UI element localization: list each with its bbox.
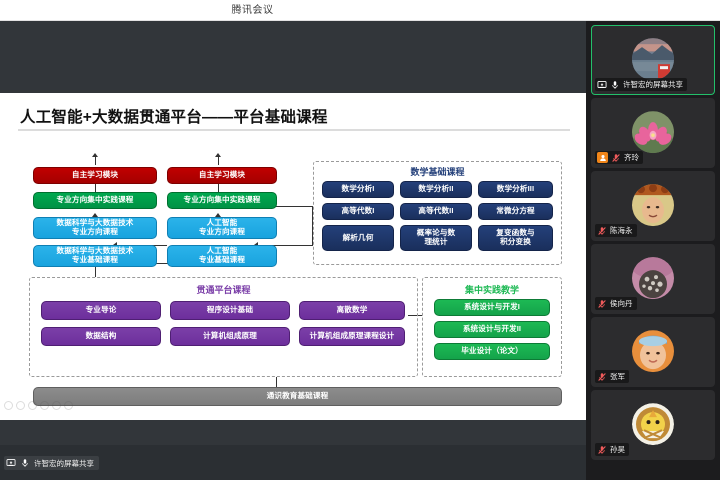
avatar (632, 184, 674, 226)
slide-title: 人工智能+大数据贯通平台——平台基础课程 (20, 105, 540, 127)
more-icon[interactable] (64, 401, 73, 410)
course-box: 人工智能 专业基础课程 (167, 245, 277, 267)
title-divider (18, 129, 570, 131)
participant-name: 齐玲 (624, 152, 639, 163)
course-box: 系统设计与开发I (434, 299, 550, 316)
participant-label: 许智宏的屏幕共享 (595, 78, 687, 91)
course-box: 概率论与数 理统计 (400, 225, 472, 251)
course-box: 专业方向集中实践课程 (33, 192, 157, 209)
microphone-muted-icon (597, 226, 607, 236)
course-box: 数学分析III (478, 181, 553, 198)
course-box: 数据科学与大数据技术 专业基础课程 (33, 245, 157, 267)
participant-label: 陈海永 (595, 224, 637, 237)
participant-rail[interactable]: 许智宏的屏幕共享 (586, 21, 720, 480)
participant-name: 张军 (610, 371, 625, 382)
course-box: 系统设计与开发II (434, 321, 550, 338)
connector (95, 184, 96, 192)
connector (276, 377, 277, 387)
microphone-muted-icon (597, 299, 607, 309)
microphone-muted-icon (597, 445, 607, 455)
avatar (632, 38, 674, 80)
participant-label: 齐玲 (595, 151, 643, 164)
course-box: 高等代数II (400, 203, 472, 220)
baby-photo-avatar (632, 330, 674, 372)
stage-top-letterbox (0, 21, 586, 93)
course-box: 离散数学 (299, 301, 405, 320)
connector-arrow (215, 153, 221, 157)
window-titlebar: 腾讯会议 (0, 0, 720, 21)
course-box: 毕业设计（论文） (434, 343, 550, 360)
connector-arrow (92, 153, 98, 157)
stage-bottom-letterbox (0, 420, 586, 445)
microphone-muted-icon (597, 372, 607, 382)
participant-tile-sun-hao[interactable]: 孙昊 (591, 390, 715, 460)
course-box: 自主学习模块 (33, 167, 157, 184)
participant-label: 张军 (595, 370, 629, 383)
shared-screen-stage[interactable]: 人工智能+大数据贯通平台——平台基础课程 (0, 21, 586, 445)
cartoon-emblem-avatar (632, 403, 674, 445)
pen-icon[interactable] (28, 401, 37, 410)
participant-name: 陈海永 (610, 225, 633, 236)
microphone-icon (20, 458, 30, 468)
math-panel-title: 数学基础课程 (313, 165, 562, 178)
participant-name: 侯向丹 (610, 298, 633, 309)
avatar (632, 403, 674, 445)
host-badge (597, 152, 608, 163)
share-status-chip: 许智宏的屏幕共享 (4, 456, 99, 470)
prev-slide-icon[interactable] (4, 401, 13, 410)
landscape-photo-avatar (632, 38, 674, 80)
screen-share-icon (597, 80, 607, 90)
general-education-bar: 通识教育基础课程 (33, 387, 562, 406)
pink-pattern-avatar (632, 257, 674, 299)
participant-label: 孙昊 (595, 443, 629, 456)
course-box: 专业方向集中实践课程 (167, 192, 277, 209)
course-box: 解析几何 (322, 225, 394, 251)
participant-tile-hou-xiangdan[interactable]: 侯向丹 (591, 244, 715, 314)
connector (218, 184, 219, 192)
course-box: 程序设计基础 (170, 301, 290, 320)
microphone-icon (610, 80, 620, 90)
course-box: 常微分方程 (478, 203, 553, 220)
bottom-status-bar: 许智宏的屏幕共享 (0, 445, 586, 480)
next-slide-icon[interactable] (16, 401, 25, 410)
platform-panel-title: 贯通平台课程 (29, 283, 418, 296)
avatar (632, 330, 674, 372)
participant-name: 许智宏的屏幕共享 (623, 79, 683, 90)
course-box: 数学分析II (400, 181, 472, 198)
slideshow-controls[interactable] (4, 401, 73, 410)
window-title: 腾讯会议 (0, 0, 720, 21)
child-photo-avatar (632, 184, 674, 226)
connector (95, 157, 96, 165)
participant-label: 侯向丹 (595, 297, 637, 310)
person-icon (599, 154, 607, 162)
course-box: 计算机组成原理 (170, 327, 290, 346)
screen-share-icon (6, 458, 16, 468)
course-box: 数学分析I (322, 181, 394, 198)
participant-tile-zhang-jun[interactable]: 张军 (591, 317, 715, 387)
course-box: 高等代数I (322, 203, 394, 220)
course-box: 人工智能 专业方向课程 (167, 217, 277, 239)
participant-tile-qi-ling[interactable]: 齐玲 (591, 98, 715, 168)
zoom-icon[interactable] (52, 401, 61, 410)
participant-tile-chen-haiyong[interactable]: 陈海永 (591, 171, 715, 241)
participant-name: 孙昊 (610, 444, 625, 455)
connector (218, 157, 219, 165)
course-box: 专业导论 (41, 301, 161, 320)
presentation-slide: 人工智能+大数据贯通平台——平台基础课程 (0, 93, 586, 420)
share-status-label: 许智宏的屏幕共享 (34, 458, 94, 469)
course-box: 计算机组成原理课程设计 (299, 327, 405, 346)
participant-tile-screen-share[interactable]: 许智宏的屏幕共享 (591, 25, 715, 95)
practice-panel-title: 集中实践教学 (422, 283, 562, 296)
course-box: 自主学习模块 (167, 167, 277, 184)
avatar (632, 111, 674, 153)
lotus-flower-avatar (632, 111, 674, 153)
course-box: 数据结构 (41, 327, 161, 346)
course-box: 数据科学与大数据技术 专业方向课程 (33, 217, 157, 239)
microphone-muted-icon (611, 153, 621, 163)
menu-icon[interactable] (40, 401, 49, 410)
tencent-meeting-window: 腾讯会议 人工智能+大数据贯通平台——平台基础课程 (0, 0, 720, 480)
avatar (632, 257, 674, 299)
course-box: 复变函数与 积分变换 (478, 225, 553, 251)
